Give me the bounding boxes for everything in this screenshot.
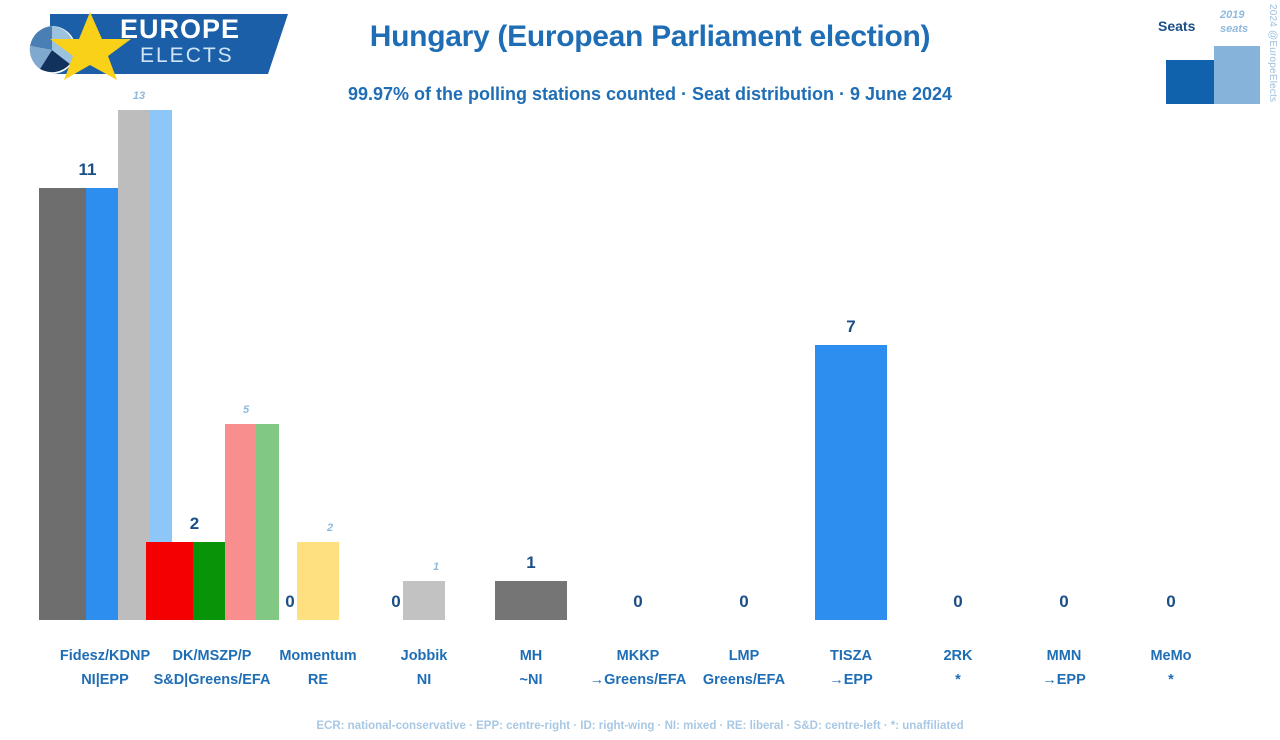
bar-value-label-memo: 0 — [1151, 592, 1191, 612]
bar-value-label-tisza: 7 — [831, 317, 871, 337]
fidesz-current-blue — [86, 188, 118, 620]
dk-current-green — [193, 542, 225, 620]
bar-2019-label-dk-mszp-p: 5 — [226, 404, 266, 416]
bar-value-label-mmn: 0 — [1044, 592, 1084, 612]
bar-value-label-lmp: 0 — [724, 592, 764, 612]
bar-value-label-fidesz-kdnp: 11 — [68, 160, 108, 180]
bar-value-label-momentum: 0 — [270, 592, 310, 612]
bar-2019-label-jobbik: 1 — [416, 561, 456, 573]
bar-value-label-dk-mszp-p: 2 — [175, 514, 215, 534]
dk-current-red — [146, 542, 193, 620]
mh-current-grey — [495, 581, 567, 620]
bar-2019-label-fidesz-kdnp: 13 — [119, 90, 159, 102]
bar-value-label-jobbik: 0 — [376, 592, 416, 612]
party-name: MeMo — [1081, 648, 1261, 664]
tisza-current-blue — [815, 345, 887, 620]
dk-2019-green — [256, 424, 279, 620]
bar-value-label-mh: 1 — [511, 553, 551, 573]
bar-value-label-mkkp: 0 — [618, 592, 658, 612]
bar-2019-label-momentum: 2 — [310, 522, 350, 534]
dk-2019-red — [225, 424, 256, 620]
bar-value-label-2rk: 0 — [938, 592, 978, 612]
bar-chart-plot-area: 1113Fidesz/KDNPNI|EPP25DK/MSZP/PS&D|Gree… — [0, 0, 1280, 740]
fidesz-2019-grey — [118, 110, 149, 620]
footer-note: ECR: national-conservative · EPP: centre… — [0, 720, 1280, 732]
party-group: * — [1081, 672, 1261, 688]
x-axis-label-memo: MeMo* — [1081, 648, 1261, 688]
fidesz-current-grey — [39, 188, 86, 620]
